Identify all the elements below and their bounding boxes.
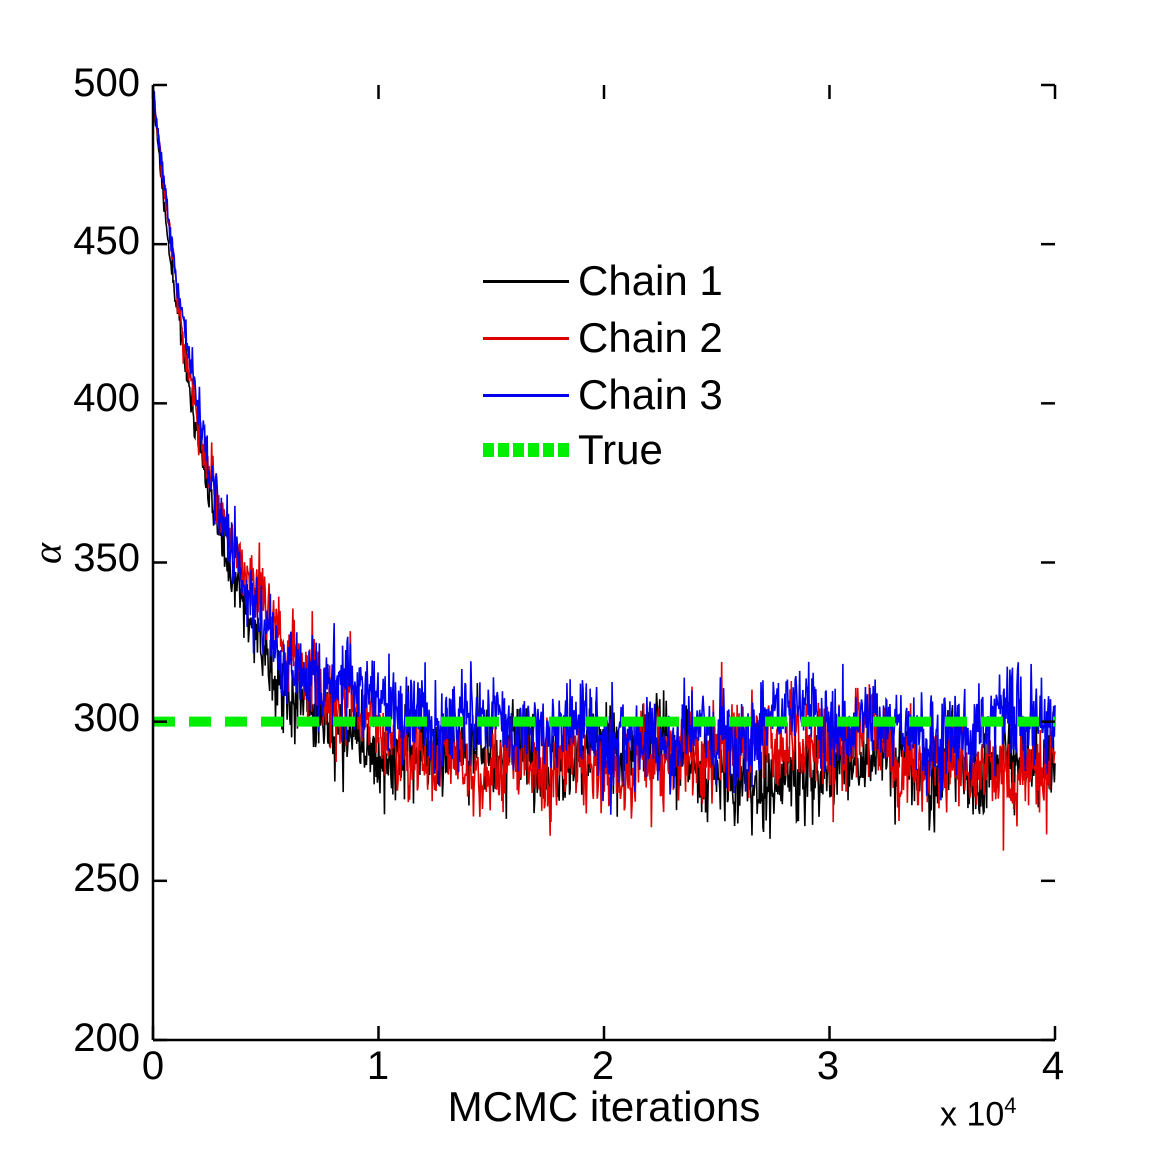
mcmc-trace-figure: 500 450 400 350 300 250 200 0 1 2 3 4 α … (0, 0, 1166, 1167)
x-tick-label-4: 4 (1013, 1046, 1093, 1086)
x-axis-exponent-power: 4 (1004, 1093, 1016, 1118)
plot-canvas (0, 0, 1166, 1167)
x-tick-label-3: 3 (788, 1046, 868, 1086)
legend-dash-segment (558, 443, 569, 457)
legend-label-chain-2: Chain 2 (578, 315, 723, 361)
legend-dash-segment (483, 443, 494, 457)
legend-label-true: True (578, 427, 663, 473)
y-tick-label-450: 450 (20, 221, 140, 261)
legend-dash-segment (513, 443, 524, 457)
legend-dash-segment (543, 443, 554, 457)
axes-layer (153, 85, 1055, 1040)
legend-item-true[interactable]: True (470, 425, 760, 477)
x-axis-exponent-label: x 104 (940, 1093, 1017, 1134)
y-tick-label-500: 500 (20, 63, 140, 103)
legend-swatch-chain-3 (483, 394, 569, 397)
legend-label-chain-3: Chain 3 (578, 372, 723, 418)
legend-item-chain-1[interactable]: Chain 1 (470, 256, 760, 308)
y-tick-label-250: 250 (20, 858, 140, 898)
y-tick-label-400: 400 (20, 378, 140, 418)
x-axis-exponent-base: x 10 (940, 1095, 1004, 1133)
y-tick-label-300: 300 (20, 698, 140, 738)
x-tick-label-2: 2 (563, 1046, 643, 1086)
y-axis-label: α (24, 519, 71, 589)
x-axis-label: MCMC iterations (153, 1083, 1055, 1131)
legend-label-chain-1: Chain 1 (578, 258, 723, 304)
legend-swatch-chain-2 (483, 337, 569, 340)
legend-dash-segment (498, 443, 509, 457)
legend-swatch-true (483, 443, 569, 457)
x-tick-label-0: 0 (113, 1046, 193, 1086)
x-tick-label-1: 1 (338, 1046, 418, 1086)
legend-item-chain-2[interactable]: Chain 2 (470, 313, 760, 365)
legend-dash-segment (528, 443, 539, 457)
legend-item-chain-3[interactable]: Chain 3 (470, 370, 760, 422)
legend: Chain 1 Chain 2 Chain 3 True (470, 252, 760, 482)
legend-swatch-chain-1 (483, 280, 569, 283)
